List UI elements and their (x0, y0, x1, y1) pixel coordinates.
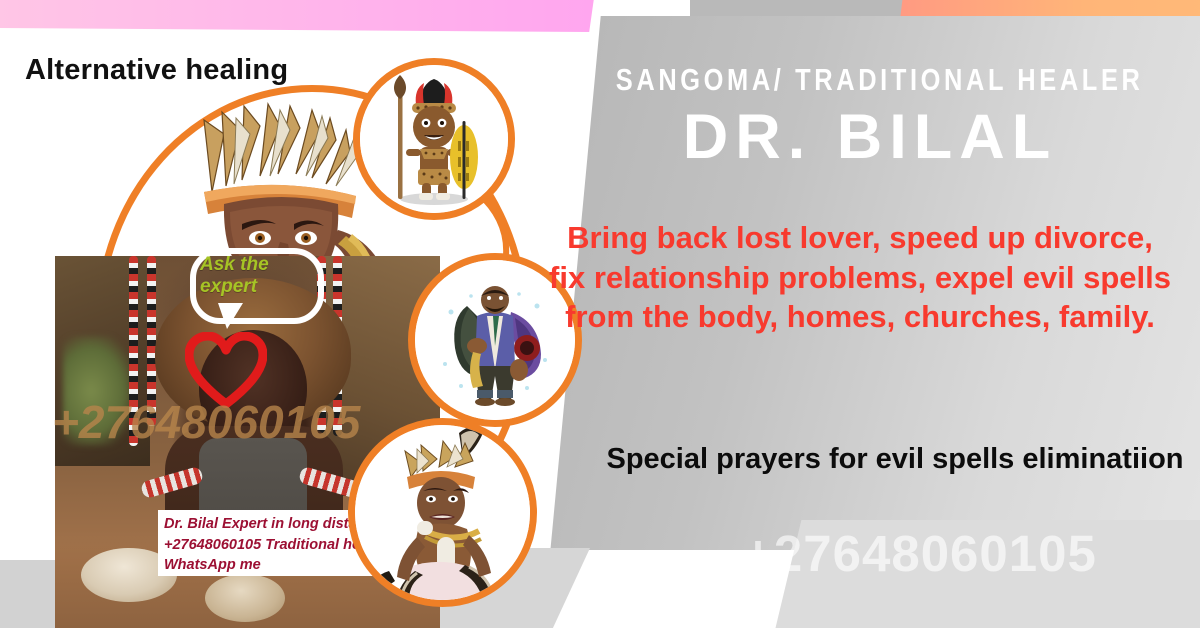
page-title-alternative-healing: Alternative healing (25, 54, 288, 87)
photo-divination-bones (205, 574, 285, 622)
speech-bubble-label: Ask the expert (200, 254, 310, 299)
bottom-left-gray-block (0, 560, 60, 628)
headline-doctor-name: DR. BILAL (560, 104, 1180, 170)
poster-canvas: Alternative healing (0, 0, 1200, 628)
top-bar-pink (0, 0, 594, 32)
zulu-warrior-child-icon (353, 58, 515, 220)
kneeling-dancer-icon (348, 418, 537, 607)
subtitle-sangoma-traditional-healer: SANGOMA/ TRADITIONAL HEALER (616, 62, 1124, 98)
services-description: Bring back lost lover, speed up divorce,… (545, 218, 1175, 337)
special-prayers-text: Special prayers for evil spells eliminat… (600, 440, 1190, 478)
contact-phone-watermark: +27648060105 (640, 524, 1200, 583)
